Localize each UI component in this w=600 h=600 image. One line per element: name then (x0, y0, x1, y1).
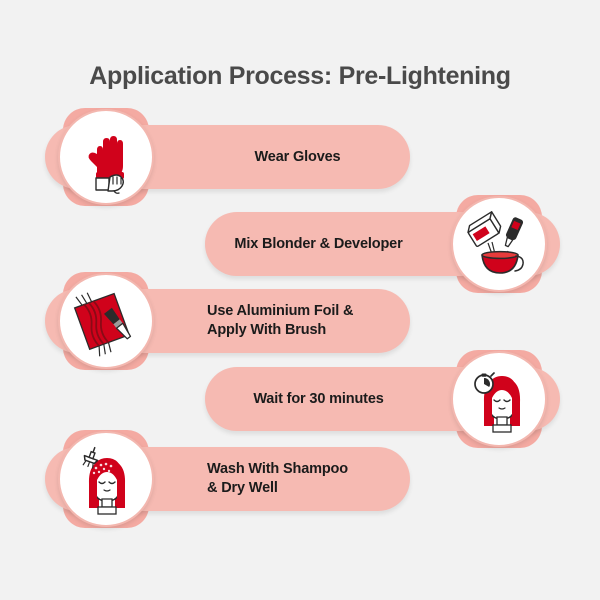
step-4-label: Wait for 30 minutes (227, 390, 410, 409)
step-row-3[interactable]: Use Aluminium Foil & Apply With Brush (45, 282, 410, 360)
gloved-hand-icon (58, 109, 154, 205)
infographic-canvas: Application Process: Pre-Lightening Wear… (0, 0, 600, 600)
step-5-label: Wash With Shampoo & Dry Well (207, 460, 348, 497)
step-1-label: Wear Gloves (207, 148, 388, 167)
step-row-1[interactable]: Wear Gloves (45, 118, 410, 196)
step-row-2[interactable]: Mix Blonder & Developer (205, 205, 560, 283)
mixing-bowl-icon (451, 196, 547, 292)
step-row-4[interactable]: Wait for 30 minutes (205, 360, 560, 438)
page-title: Application Process: Pre-Lightening (0, 62, 600, 91)
shower-woman-icon (58, 431, 154, 527)
step-2-label: Mix Blonder & Developer (227, 235, 410, 254)
step-row-5[interactable]: Wash With Shampoo & Dry Well (45, 440, 410, 518)
step-3-label: Use Aluminium Foil & Apply With Brush (207, 302, 353, 339)
stopwatch-woman-icon (451, 351, 547, 447)
foil-and-brush-icon (58, 273, 154, 369)
